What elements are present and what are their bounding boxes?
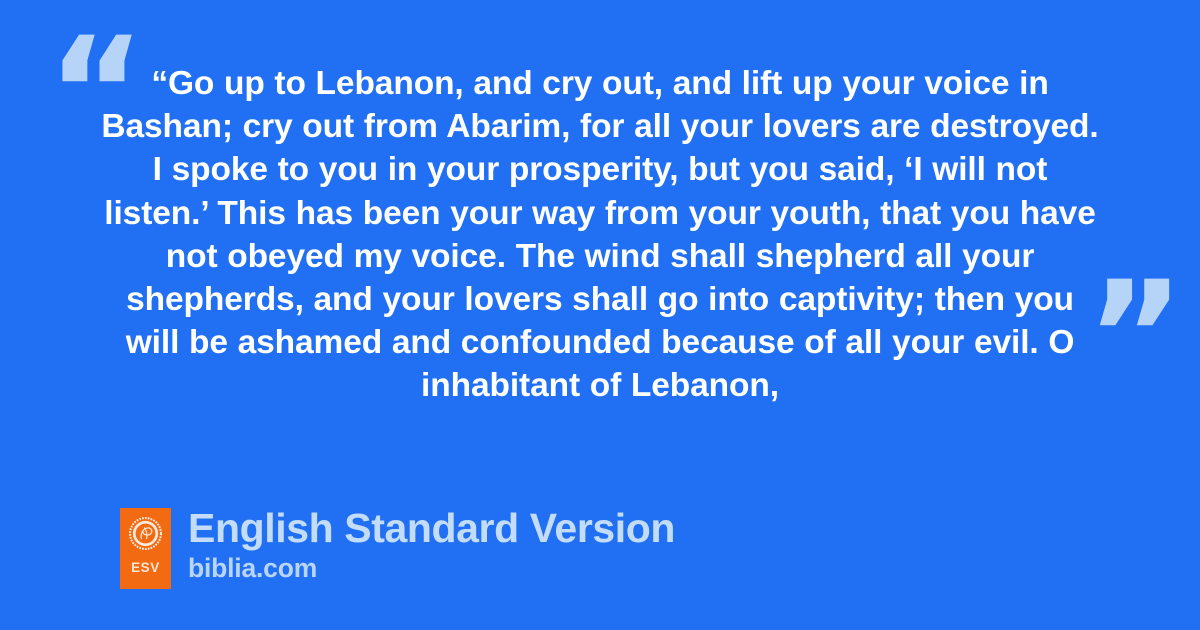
site-name: biblia.com xyxy=(188,553,675,583)
attribution: ESV English Standard Version biblia.com xyxy=(120,508,675,589)
attribution-text-block: English Standard Version biblia.com xyxy=(188,508,675,583)
bible-version-name: English Standard Version xyxy=(188,505,675,551)
esv-seal-icon xyxy=(129,517,162,550)
esv-logo-label: ESV xyxy=(131,561,160,575)
verse-quote-text: “Go up to Lebanon, and cry out, and lift… xyxy=(100,62,1100,408)
decorative-close-quote-icon: ” xyxy=(1086,262,1187,412)
bible-verse-card: “ ” “Go up to Lebanon, and cry out, and … xyxy=(0,0,1200,630)
esv-logo-badge: ESV xyxy=(120,508,171,589)
